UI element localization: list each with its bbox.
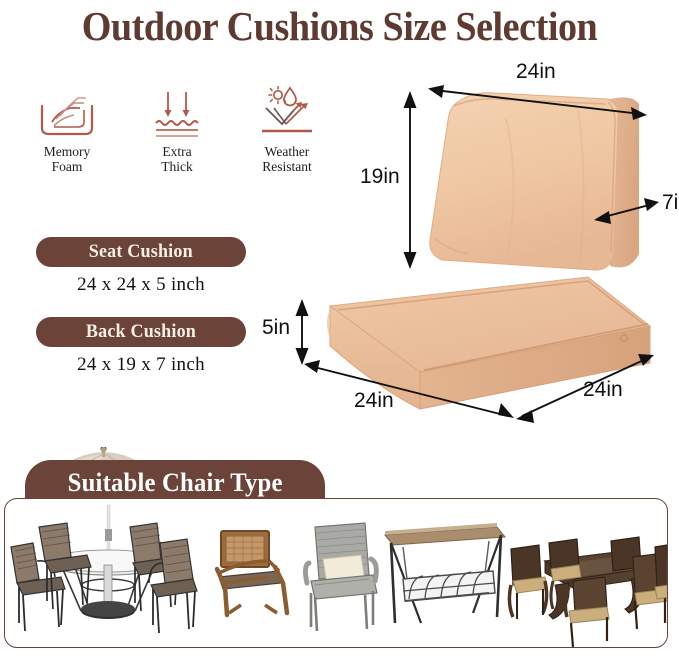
infographic-page: Outdoor Cushions Size Selection Memory F… bbox=[0, 0, 679, 656]
dim-back-height: 19in bbox=[360, 165, 400, 189]
wooden-lounge-chair bbox=[217, 531, 287, 615]
feature-label-line2: Foam bbox=[12, 159, 122, 174]
brown-wicker-dining-set bbox=[509, 537, 667, 647]
seat-cushion-label: Seat Cushion bbox=[89, 241, 193, 263]
chair-type-illustrations bbox=[5, 499, 667, 647]
seat-cushion-dimensions: 24 x 24 x 5 inch bbox=[36, 274, 246, 296]
dim-seat-depth: 24in bbox=[583, 378, 623, 402]
dim-seat-width: 24in bbox=[354, 389, 394, 413]
memory-foam-icon bbox=[12, 88, 122, 140]
dim-back-width: 24in bbox=[516, 60, 556, 84]
back-cushion-badge: Back Cushion bbox=[36, 317, 246, 347]
suitable-chair-section: Suitable Chair Type bbox=[0, 447, 679, 656]
cushion-diagram: 24in 19in 7in 5in 24in 24in bbox=[258, 58, 679, 433]
feature-label: Extra Thick bbox=[122, 144, 232, 174]
seat-cushion-badge: Seat Cushion bbox=[36, 237, 246, 267]
page-title: Outdoor Cushions Size Selection bbox=[24, 2, 655, 50]
feature-extra-thick: Extra Thick bbox=[122, 88, 232, 188]
canopy-porch-swing bbox=[385, 523, 505, 623]
feature-memory-foam: Memory Foam bbox=[12, 88, 122, 188]
dim-seat-height: 5in bbox=[262, 316, 290, 340]
suitable-chair-banner-label: Suitable Chair Type bbox=[68, 468, 283, 498]
back-cushion-dimensions: 24 x 19 x 7 inch bbox=[36, 354, 246, 376]
extra-thick-icon bbox=[122, 88, 232, 140]
gray-wicker-chair-with-cushion bbox=[305, 523, 377, 631]
size-list: Seat Cushion 24 x 24 x 5 inch Back Cushi… bbox=[36, 237, 246, 376]
chair-type-panel bbox=[4, 498, 668, 648]
feature-label: Memory Foam bbox=[12, 144, 122, 174]
back-cushion-label: Back Cushion bbox=[86, 321, 196, 343]
dim-back-depth: 7in bbox=[662, 191, 679, 215]
patio-dining-set-with-umbrella bbox=[11, 505, 197, 633]
feature-label-line1: Extra bbox=[122, 144, 232, 159]
feature-label-line2: Thick bbox=[122, 159, 232, 174]
feature-label-line1: Memory bbox=[12, 144, 122, 159]
